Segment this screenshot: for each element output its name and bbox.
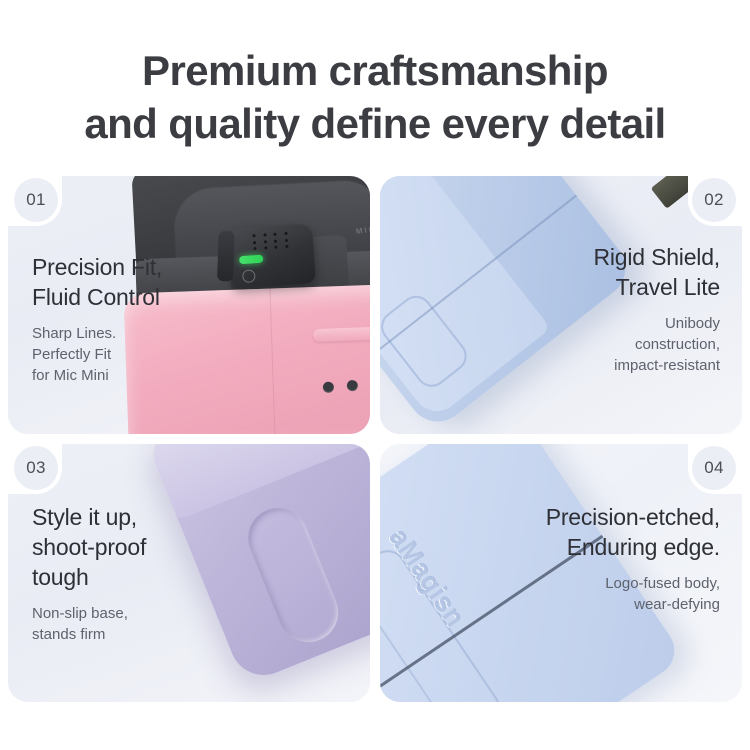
case-body-purple [144, 444, 370, 685]
feature-card-02[interactable]: aMagisn 02 Rigid Shield, Travel Lite Uni… [380, 176, 742, 434]
card-title-02: Rigid Shield, Travel Lite [593, 242, 720, 302]
mic-power-button-icon [242, 269, 256, 283]
mic-status-led [239, 255, 263, 265]
case-face-shape: aMagisn [380, 176, 551, 421]
feature-card-04[interactable]: aMagisn 04 Precision-etched, Enduring ed… [380, 444, 742, 702]
card-subtitle-02: Unibody construction, impact-resistant [593, 313, 720, 376]
card-badge-01: 01 [14, 178, 58, 222]
mic-grille-icon [252, 232, 293, 253]
card-text-block-01: Precision Fit, Fluid Control Sharp Lines… [32, 252, 162, 386]
card-badge-03: 03 [14, 446, 58, 490]
case-pad-outline [380, 289, 473, 393]
card-title-03: Style it up, shoot-proof tough [32, 502, 146, 592]
non-slip-pad-shape [239, 499, 347, 651]
headline-line-2: and quality define every detail [20, 97, 730, 150]
case-latch-shape [313, 326, 370, 342]
card-title-04: Precision-etched, Enduring edge. [546, 502, 720, 562]
case-seam-line [269, 288, 275, 434]
wireless-mic-device [228, 223, 316, 289]
card-text-block-04: Precision-etched, Enduring edge. Logo-fu… [546, 502, 720, 615]
page-title: Premium craftsmanship and quality define… [0, 0, 750, 150]
card-subtitle-03: Non-slip base, stands firm [32, 603, 146, 645]
card-text-block-03: Style it up, shoot-proof tough Non-slip … [32, 502, 146, 645]
case-led-indicator-dots [323, 376, 370, 393]
card-text-block-02: Rigid Shield, Travel Lite Unibody constr… [593, 242, 720, 376]
feature-card-grid: MIC [0, 176, 750, 702]
case-top-surface [144, 444, 370, 520]
mic-label-text: MIC [356, 224, 370, 235]
feature-card-01[interactable]: MIC [8, 176, 370, 434]
card-subtitle-04: Logo-fused body, wear-defying [546, 573, 720, 615]
mic-clip-shape [217, 231, 235, 282]
card-subtitle-01: Sharp Lines. Perfectly Fit for Mic Mini [32, 323, 162, 386]
card-badge-04: 04 [692, 446, 736, 490]
headline-line-1: Premium craftsmanship [20, 44, 730, 97]
card-badge-02: 02 [692, 178, 736, 222]
card-title-01: Precision Fit, Fluid Control [32, 252, 162, 312]
feature-card-03[interactable]: 03 Style it up, shoot-proof tough Non-sl… [8, 444, 370, 702]
